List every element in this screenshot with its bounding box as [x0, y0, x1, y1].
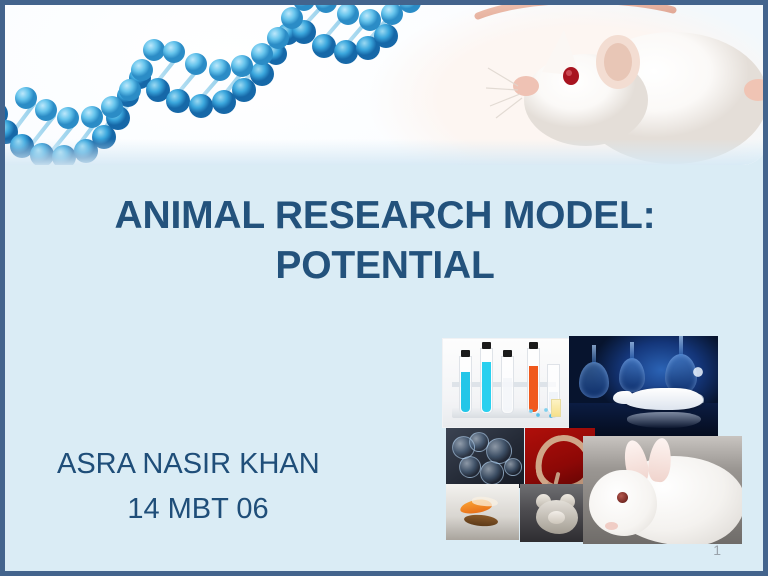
rabbit-eye [617, 492, 628, 503]
grey-mouse-snout [548, 511, 565, 524]
cells-microscopy-image [446, 428, 524, 488]
title-banner-image [0, 0, 768, 165]
cell-6 [504, 458, 522, 476]
fly-pupa [464, 514, 499, 528]
test-tube-orange [527, 348, 540, 414]
rabbit-nose [605, 522, 618, 530]
white-rat-silhouette [625, 388, 703, 410]
white-rat-reflection [627, 412, 701, 428]
cell-4 [459, 456, 481, 478]
title-line-2: POTENTIAL [35, 241, 735, 291]
title-line-1: ANIMAL RESEARCH MODEL: [35, 191, 735, 241]
research-models-collage [437, 336, 742, 544]
slide-subtitle: ASRA NASIR KHAN 14 MBT 06 [57, 442, 387, 532]
white-rabbit-image [583, 436, 742, 544]
banner-bottom-fade [0, 139, 768, 165]
fruit-fly-drosophila-image [446, 484, 519, 540]
presentation-slide: ANIMAL RESEARCH MODEL: POTENTIAL ASRA NA… [0, 0, 768, 576]
flask-2 [619, 358, 645, 392]
test-tube-empty [501, 356, 514, 414]
author-name: ASRA NASIR KHAN [57, 442, 387, 487]
blue-beads [527, 407, 553, 419]
test-tube-cyan-2 [480, 348, 493, 414]
slide-title: ANIMAL RESEARCH MODEL: POTENTIAL [35, 191, 735, 291]
rabbit-head [589, 470, 657, 536]
author-roll-number: 14 MBT 06 [57, 487, 387, 532]
flask-1 [579, 362, 609, 398]
cell-5 [480, 461, 504, 485]
test-tubes-rack-image [442, 338, 570, 428]
page-number: 1 [713, 542, 721, 558]
amber-vial [551, 399, 561, 417]
test-tube-cyan-1 [459, 356, 472, 414]
